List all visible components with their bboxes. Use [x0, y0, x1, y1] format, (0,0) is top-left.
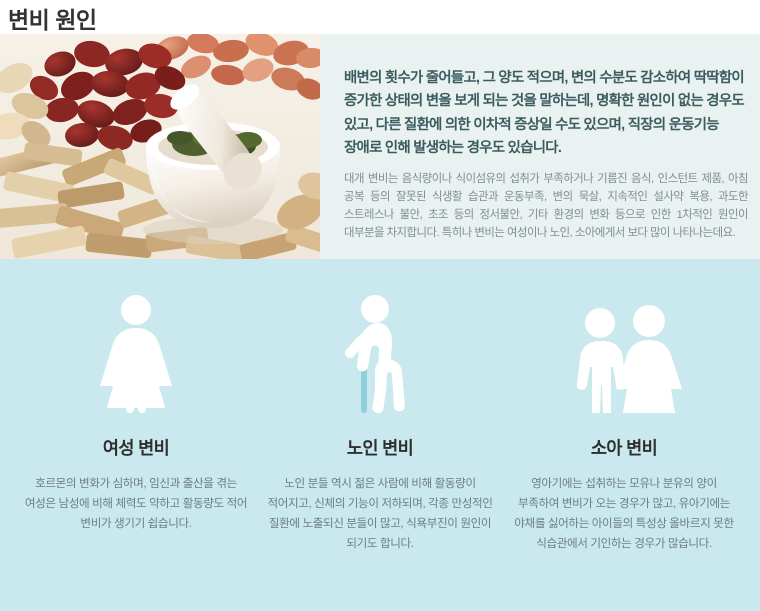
- cause-card-title: 여성 변비: [22, 413, 250, 460]
- herbal-medicine-photo: [0, 34, 320, 259]
- cause-card-women: 여성 변비 호르몬의 변화가 심하며, 임신과 출산을 겪는 여성은 남성에 비…: [22, 259, 250, 611]
- causes-cards-section: 여성 변비 호르몬의 변화가 심하며, 임신과 출산을 겪는 여성은 남성에 비…: [0, 259, 760, 611]
- cause-card-text: 호르몬의 변화가 심하며, 임신과 출산을 겪는 여성은 남성에 비해 체력도 …: [22, 460, 250, 534]
- two-children-figure-icon: [510, 293, 738, 413]
- elderly-with-cane-figure-icon: [266, 293, 494, 413]
- cause-card-children: 소아 변비 영아기에는 섭취하는 모유나 분유의 양이 부족하여 변비가 오는 …: [510, 259, 738, 611]
- cause-card-text: 노인 분들 역시 젊은 사람에 비해 활동량이 적어지고, 신체의 기능이 저하…: [266, 460, 494, 554]
- intro-lead-paragraph: 배변의 횟수가 줄어들고, 그 양도 적으며, 변의 수분도 감소하여 딱딱함이…: [344, 34, 748, 160]
- cause-card-title: 소아 변비: [510, 413, 738, 460]
- intro-section: 배변의 횟수가 줄어들고, 그 양도 적으며, 변의 수분도 감소하여 딱딱함이…: [0, 34, 760, 259]
- cause-card-text: 영아기에는 섭취하는 모유나 분유의 양이 부족하여 변비가 오는 경우가 많고…: [510, 460, 738, 554]
- page-title: 변비 원인: [0, 0, 760, 34]
- woman-figure-icon: [22, 293, 250, 413]
- cause-card-elderly: 노인 변비 노인 분들 역시 젊은 사람에 비해 활동량이 적어지고, 신체의 …: [266, 259, 494, 611]
- cause-card-title: 노인 변비: [266, 413, 494, 460]
- intro-sub-paragraph: 대개 변비는 음식량이나 식이섬유의 섭취가 부족하거나 기름진 음식, 인스턴…: [344, 160, 748, 242]
- intro-copy: 배변의 횟수가 줄어들고, 그 양도 적으며, 변의 수분도 감소하여 딱딱함이…: [344, 34, 748, 259]
